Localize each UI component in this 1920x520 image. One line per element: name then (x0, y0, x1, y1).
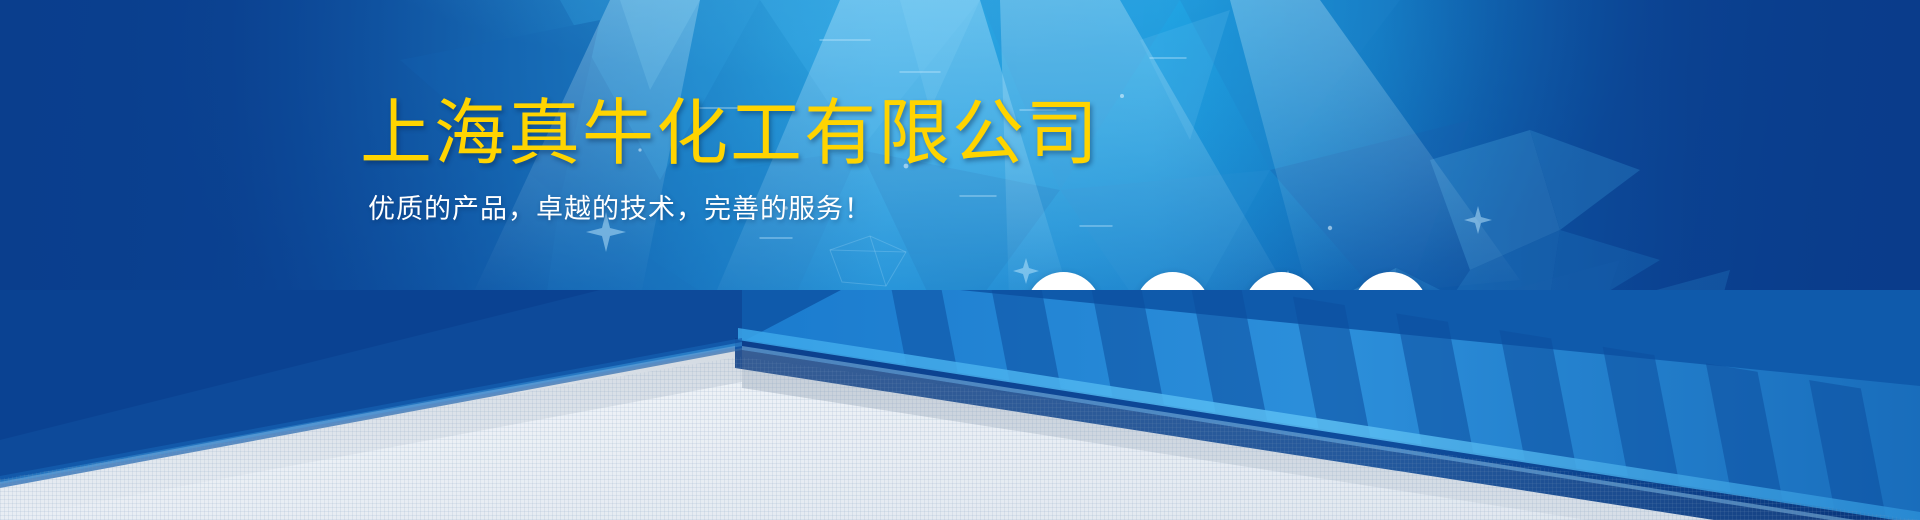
page-subtitle: 优质的产品，卓越的技术，完善的服务！ (368, 196, 872, 223)
bottom-chevron-decoration (0, 290, 1920, 520)
company-hero-banner: 上海真牛化工有限公司 优质的产品，卓越的技术，完善的服务！ 优势一 (0, 0, 1920, 520)
page-title: 上海真牛化工有限公司 (360, 98, 1100, 170)
